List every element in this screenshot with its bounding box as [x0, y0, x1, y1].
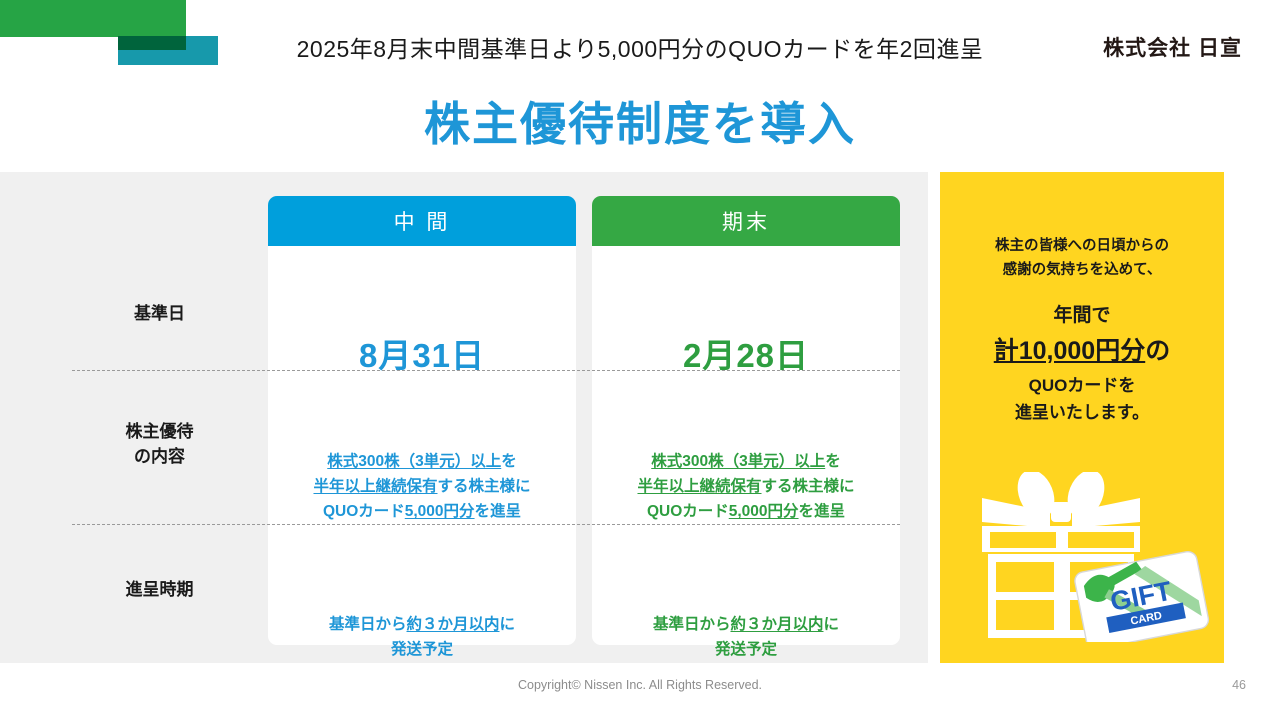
summary-annual-label: 年間で — [940, 300, 1224, 327]
benefit-detail-line1-tail: を — [501, 453, 517, 470]
benefit-detail-line3-tail: を進呈 — [799, 503, 846, 520]
benefit-detail-line3-tail: を進呈 — [475, 503, 522, 520]
header-subtitle: 2025年8月末中間基準日より5,000円分のQUOカードを年2回進呈 — [0, 30, 1280, 64]
delivery-timing-line1: 基準日から約３か月以内に — [268, 612, 576, 637]
page-title: 株主優待制度を導入 — [0, 88, 1280, 154]
footer-page-number: 46 — [1232, 678, 1246, 692]
delivery-timing-line1-tail: に — [500, 616, 516, 633]
benefit-detail-line1-underlined: 株式300株（3単元）以上 — [651, 453, 825, 470]
benefit-detail-line3-underlined: 5,000円分 — [405, 503, 475, 520]
benefit-detail-line1-tail: を — [825, 453, 841, 470]
summary-tail-line1: QUOカードを — [940, 372, 1224, 399]
cell-interim-benefit-detail: 株式300株（3単元）以上を 半年以上継続保有する株主様に QUOカード5,00… — [268, 449, 576, 524]
column-year-end-header: 期末 — [592, 196, 900, 246]
delivery-timing-line1: 基準日から約３か月以内に — [592, 612, 900, 637]
row-label-record-date: 基準日 — [72, 302, 247, 327]
summary-lead-line1: 株主の皆様への日頃からの — [940, 235, 1224, 259]
summary-lead-line2: 感謝の気持ちを込めて、 — [940, 259, 1224, 283]
benefit-detail-line3: QUOカード5,000円分を進呈 — [592, 499, 900, 524]
column-year-end: 期末 2月28日 株式300株（3単元）以上を 半年以上継続保有する株主様に Q… — [592, 196, 900, 645]
benefit-detail-line3: QUOカード5,000円分を進呈 — [268, 499, 576, 524]
row-label-benefit-detail-line1: 株主優待 — [72, 420, 247, 445]
column-interim-header: 中 間 — [268, 196, 576, 246]
benefit-detail-line2-underlined: 半年以上継続保有 — [313, 478, 437, 495]
cell-year-end-benefit-detail: 株式300株（3単元）以上を 半年以上継続保有する株主様に QUOカード5,00… — [592, 449, 900, 524]
summary-total-amount-underlined: 計10,000円分 — [994, 337, 1145, 365]
benefit-detail-line2-underlined: 半年以上継続保有 — [637, 478, 761, 495]
benefit-detail-line1-underlined: 株式300株（3単元）以上 — [327, 453, 501, 470]
benefit-detail-line3-head: QUOカード — [323, 503, 405, 520]
delivery-timing-line1-head: 基準日から — [329, 616, 407, 633]
delivery-timing-line1-head: 基準日から — [653, 616, 731, 633]
column-year-end-body: 2月28日 株式300株（3単元）以上を 半年以上継続保有する株主様に QUOカ… — [592, 246, 900, 645]
column-interim: 中 間 8月31日 株式300株（3単元）以上を 半年以上継続保有する株主様に … — [268, 196, 576, 645]
delivery-timing-line2: 発送予定 — [592, 637, 900, 662]
delivery-timing-line1-tail: に — [824, 616, 840, 633]
footer-copyright: Copyright© Nissen Inc. All Rights Reserv… — [0, 678, 1280, 692]
gift-box-illustration: GIFT CARD — [952, 472, 1212, 642]
benefit-detail-line3-head: QUOカード — [647, 503, 729, 520]
summary-total-amount-tail: の — [1145, 337, 1170, 365]
benefit-detail-line2-tail: する株主様に — [438, 478, 531, 495]
benefit-detail-line2-tail: する株主様に — [762, 478, 855, 495]
summary-total-amount: 計10,000円分の — [940, 331, 1224, 367]
benefit-detail-line2: 半年以上継続保有する株主様に — [268, 474, 576, 499]
summary-tail-text: QUOカードを 進呈いたします。 — [940, 372, 1224, 426]
summary-panel: 株主の皆様への日頃からの 感謝の気持ちを込めて、 年間で 計10,000円分の … — [940, 172, 1224, 663]
row-separator — [72, 370, 900, 371]
row-separator — [72, 524, 900, 525]
benefit-detail-line2: 半年以上継続保有する株主様に — [592, 474, 900, 499]
company-logo: 株式会社 日宣 — [1103, 32, 1242, 62]
summary-tail-line2: 進呈いたします。 — [940, 399, 1224, 426]
benefit-detail-line1: 株式300株（3単元）以上を — [268, 449, 576, 474]
delivery-timing-line2: 発送予定 — [268, 637, 576, 662]
delivery-timing-line1-underlined: 約３か月以内 — [406, 616, 499, 633]
summary-lead-text: 株主の皆様への日頃からの 感謝の気持ちを込めて、 — [940, 235, 1224, 283]
cell-year-end-delivery-timing: 基準日から約３か月以内に 発送予定 — [592, 612, 900, 662]
benefit-detail-line1: 株式300株（3単元）以上を — [592, 449, 900, 474]
benefit-detail-line3-underlined: 5,000円分 — [729, 503, 799, 520]
delivery-timing-line1-underlined: 約３か月以内 — [730, 616, 823, 633]
column-interim-body: 8月31日 株式300株（3単元）以上を 半年以上継続保有する株主様に QUOカ… — [268, 246, 576, 645]
cell-interim-delivery-timing: 基準日から約３か月以内に 発送予定 — [268, 612, 576, 662]
row-label-benefit-detail: 株主優待 の内容 — [72, 420, 247, 469]
row-label-benefit-detail-line2: の内容 — [72, 445, 247, 470]
row-label-delivery-timing: 進呈時期 — [72, 578, 247, 603]
